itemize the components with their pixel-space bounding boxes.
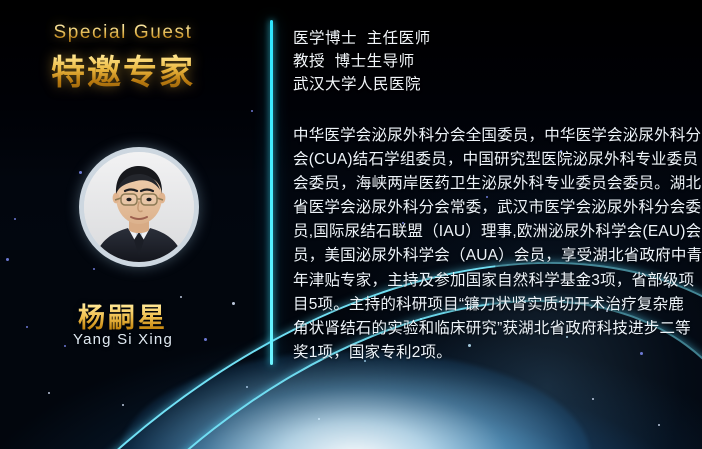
left-panel: Special Guest 特邀专家 — [0, 0, 270, 449]
bio-line: 省医学会泌尿外科分会常委，武汉市医学会泌尿外科分会委 — [293, 196, 693, 220]
bio-line: 会(CUA)结石学组委员，中国研究型医院泌尿外科专业委员 — [293, 148, 693, 172]
speaker-name-cn: 杨嗣星 — [0, 296, 246, 335]
bio-line: 员,国际尿结石联盟（IAU）理事,欧洲泌尿外科学会(EAU)会 — [293, 220, 693, 244]
special-guest-label: Special Guest — [0, 22, 246, 44]
bio-line: 年津贴专家，主持及参加国家自然科学基金3项，省部级项 — [293, 269, 693, 293]
vertical-divider — [270, 20, 273, 365]
avatar-photo — [84, 152, 194, 262]
title-line: 医学博士 主任医师 — [293, 27, 693, 50]
speaker-name-en: Yang Si Xing — [0, 331, 246, 348]
speaker-titles: 医学博士 主任医师 教授 博士生导师 武汉大学人民医院 — [293, 27, 693, 96]
bio-line: 会委员，海峡两岸医药卫生泌尿外科专业委员会委员。湖北 — [293, 172, 693, 196]
bio-line: 角状肾结石的实验和临床研究”获湖北省政府科技进步二等 — [293, 317, 693, 341]
bio-line: 员，美国泌尿外科学会（AUA）会员，享受湖北省政府中青 — [293, 244, 693, 268]
title-line: 武汉大学人民医院 — [293, 73, 693, 96]
special-guest-label-cn: 特邀专家 — [0, 45, 246, 94]
bio-line: 目5项。主持的科研项目“镰刀状肾实质切开术治疗复杂鹿 — [293, 293, 693, 317]
speaker-intro-slide: Special Guest 特邀专家 — [0, 0, 702, 449]
avatar — [79, 147, 199, 267]
title-line: 教授 博士生导师 — [293, 50, 693, 73]
speaker-bio: 中华医学会泌尿外科分会全国委员，中华医学会泌尿外科分 会(CUA)结石学组委员，… — [293, 124, 693, 365]
bio-line: 中华医学会泌尿外科分会全国委员，中华医学会泌尿外科分 — [293, 124, 693, 148]
bio-line: 奖1项，国家专利2项。 — [293, 341, 693, 365]
right-panel: 医学博士 主任医师 教授 博士生导师 武汉大学人民医院 中华医学会泌尿外科分会全… — [293, 0, 693, 449]
